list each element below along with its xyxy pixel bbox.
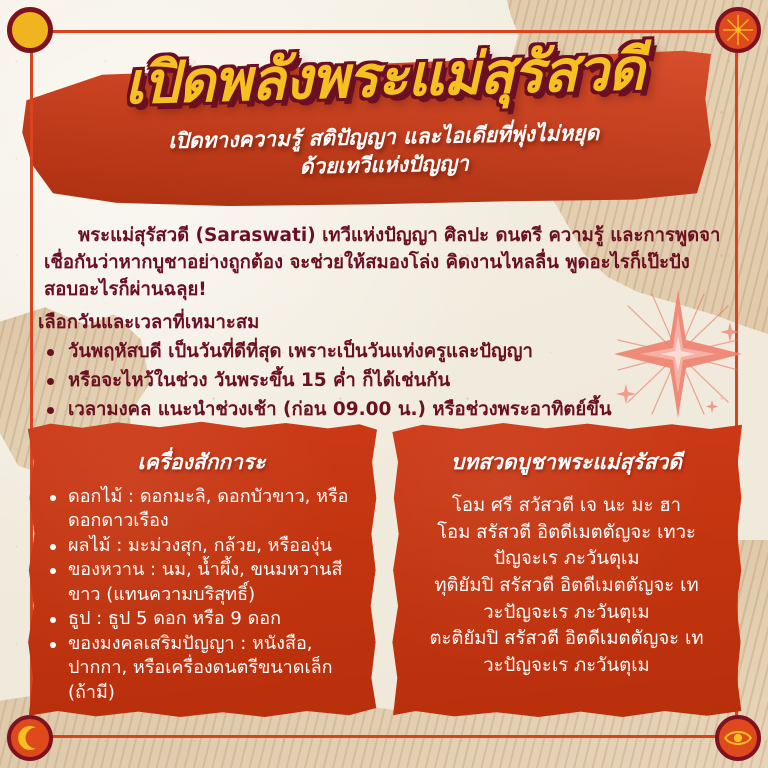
panels-row: เครื่องสักการะ ดอกไม้ : ดอกมะลิ, ดอกบัวข… — [26, 420, 742, 720]
chant-line: วะปัญจะเร ภะวันตุเม — [405, 653, 728, 680]
offerings-panel-title: เครื่องสักการะ — [40, 446, 363, 479]
chant-line: ตะติยัมปิ สรัสวตี อิตดีเมตตัญจะ เท — [405, 626, 728, 653]
title-block: เปิดพลังพระแม่สุรัสวดี เปิดทางความรู้ สต… — [0, 48, 768, 179]
chant-line: วะปัญจะเร ภะวันตุเม — [405, 600, 728, 627]
gold-disc-icon — [7, 7, 53, 53]
chant-line: โอม สรัสวตี อิตดีเมตตัญจะ เทวะ — [405, 520, 728, 547]
subtitle-line-2: ด้วยเทวีแห่งปัญญา — [299, 151, 469, 178]
offerings-list: ดอกไม้ : ดอกมะลิ, ดอกบัวขาว, หรือดอกดาวเ… — [40, 485, 363, 705]
list-item: ดอกไม้ : ดอกมะลิ, ดอกบัวขาว, หรือดอกดาวเ… — [40, 485, 363, 534]
list-item: ธูป : ธูป 5 ดอก หรือ 9 ดอก — [40, 607, 363, 631]
eye-icon — [715, 715, 761, 761]
chant-panel-title: บทสวดบูชาพระแม่สุรัสวดี — [405, 446, 728, 479]
poster-canvas: เปิดพลังพระแม่สุรัสวดี เปิดทางความรู้ สต… — [0, 0, 768, 768]
intro-paragraph: พระแม่สุรัสวดี (Saraswati) เทวีแห่งปัญญา… — [44, 222, 728, 303]
list-item: วันพฤหัสบดี เป็นวันที่ดีที่สุด เพราะเป็น… — [38, 338, 728, 366]
chant-line: โอม ศรี สวัสวตี เจ นะ มะ ฮา — [405, 493, 728, 520]
timing-heading: เลือกวันและเวลาที่เหมาะสม — [38, 310, 728, 336]
list-item: ของมงคลเสริมปัญญา : หนังสือ, ปากกา, หรือ… — [40, 632, 363, 705]
offerings-panel: เครื่องสักการะ ดอกไม้ : ดอกมะลิ, ดอกบัวข… — [26, 420, 377, 720]
chant-panel: บทสวดบูชาพระแม่สุรัสวดี โอม ศรี สวัสวตี … — [391, 420, 742, 720]
timing-list: วันพฤหัสบดี เป็นวันที่ดีที่สุด เพราะเป็น… — [38, 338, 728, 424]
timing-section: เลือกวันและเวลาที่เหมาะสม วันพฤหัสบดี เป… — [38, 310, 728, 425]
crescent-moon-icon — [7, 715, 53, 761]
page-title: เปิดพลังพระแม่สุรัสวดี — [0, 37, 768, 118]
subtitle-line-1: เปิดทางความรู้ สติปัญญา และไอเดียที่พุ่ง… — [168, 121, 599, 153]
chant-line: ปัญจะเร ภะวันตุเม — [405, 546, 728, 573]
chant-line: ทุติยัมปิ สรัสวตี อิตดีเมตตัญจะ เท — [405, 573, 728, 600]
list-item: ของหวาน : นม, น้ำผึ้ง, ขนมหวานสีขาว (แทน… — [40, 558, 363, 607]
list-item: หรือจะไหว้ในช่วง วันพระขึ้น 15 ค่ำ ก็ได้… — [38, 367, 728, 395]
list-item: ผลไม้ : มะม่วงสุก, กล้วย, หรือองุ่น — [40, 534, 363, 558]
page-subtitle: เปิดทางความรู้ สติปัญญา และไอเดียที่พุ่ง… — [0, 116, 768, 186]
chant-text: โอม ศรี สวัสวตี เจ นะ มะ ฮา โอม สรัสวตี … — [405, 493, 728, 679]
